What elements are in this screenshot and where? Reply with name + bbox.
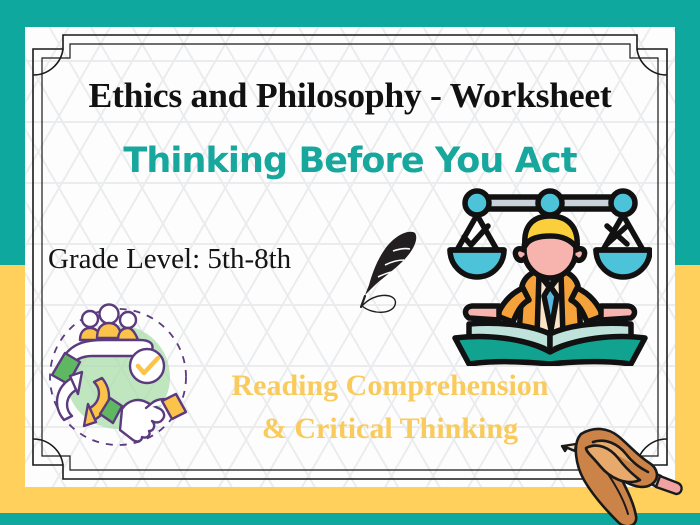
footer-tagline: Reading Comprehension & Critical Thinkin…: [190, 365, 590, 450]
worksheet-cover-poster: Ethics and Philosophy - Worksheet Thinki…: [0, 0, 700, 525]
footer-tagline-line-2: & Critical Thinking: [190, 408, 590, 451]
footer-tagline-line-1: Reading Comprehension: [190, 365, 590, 408]
page-subtitle: Thinking Before You Act: [0, 141, 700, 181]
grade-level-label: Grade Level: 5th-8th: [48, 243, 291, 276]
page-title: Ethics and Philosophy - Worksheet: [0, 76, 700, 116]
